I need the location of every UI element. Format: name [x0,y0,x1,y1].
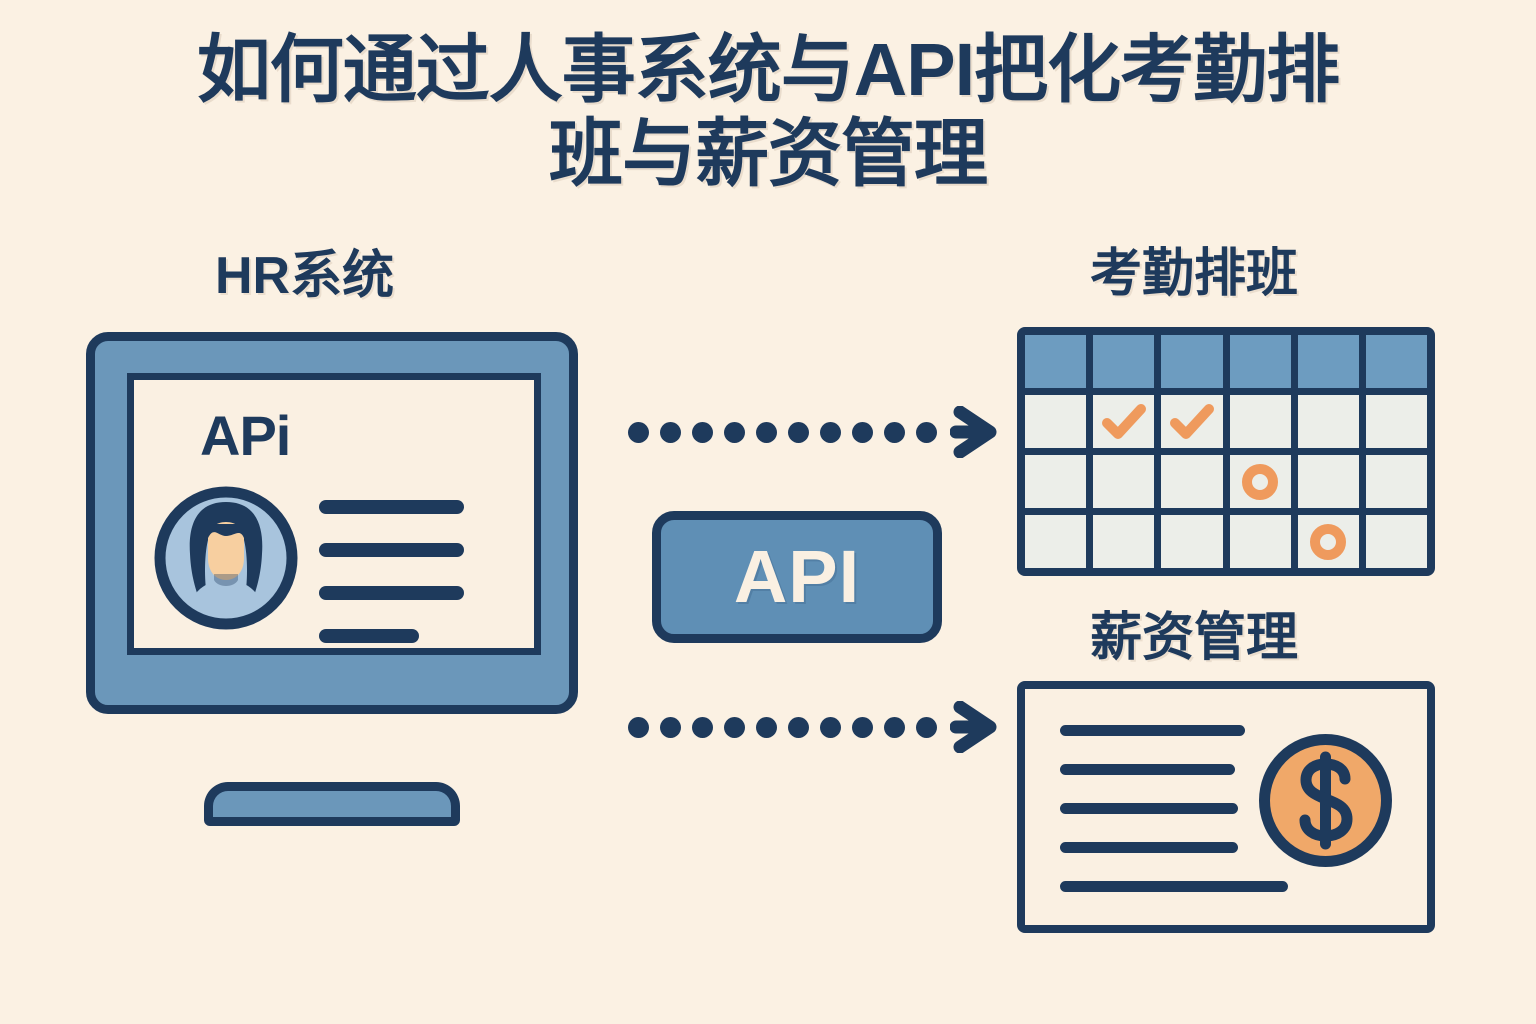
calendar-cell[interactable] [1298,455,1359,508]
calendar-header-cell[interactable] [1025,335,1086,388]
calendar-cell[interactable] [1093,395,1154,448]
arrow-dot [916,422,937,443]
calendar-cell[interactable] [1298,395,1359,448]
arrow-dot [756,422,777,443]
screen-text-line [319,586,464,600]
arrow-dot [820,422,841,443]
screen-text-lines [319,500,464,643]
payroll-text-line [1060,764,1235,775]
screen-api-heading: APi [200,408,290,464]
payroll-label: 薪资管理 [1090,612,1298,664]
monitor-base [204,782,460,826]
calendar-cell[interactable] [1230,515,1291,568]
page-title: 如何通过人事系统与API把化考勤排 班与薪资管理 [0,28,1536,195]
check-icon [1101,402,1147,442]
attendance-label: 考勤排班 [1090,248,1298,300]
arrow-to-payroll [628,707,970,747]
arrow-dot [628,422,649,443]
arrow-dot [788,422,809,443]
page-title-line-1: 如何通过人事系统与API把化考勤排 [0,28,1536,112]
calendar-header-cell[interactable] [1161,335,1222,388]
arrow-dot [724,717,745,738]
calendar-cell[interactable] [1093,455,1154,508]
arrow-dot [692,717,713,738]
calendar-header-cell[interactable] [1298,335,1359,388]
check-icon [1169,402,1215,442]
calendar-cell[interactable] [1161,395,1222,448]
employee-avatar-icon [152,484,300,632]
dollar-coin-icon [1256,731,1395,870]
arrow-dot [660,422,681,443]
circle-icon [1309,523,1347,561]
calendar-cell[interactable] [1025,515,1086,568]
arrow-dot [756,717,777,738]
monitor-body: APi [86,332,578,714]
calendar-cell[interactable] [1025,395,1086,448]
api-chip[interactable]: API [652,511,942,643]
calendar-cell[interactable] [1161,455,1222,508]
calendar-header-cell[interactable] [1093,335,1154,388]
arrow-dot [820,717,841,738]
arrow-dot [852,717,873,738]
arrow-dot [852,422,873,443]
page-title-line-2: 班与薪资管理 [0,112,1536,196]
hr-system-label: HR系统 [215,250,394,302]
infographic-canvas: 如何通过人事系统与API把化考勤排 班与薪资管理 HR系统 APi [0,0,1536,1024]
arrow-head-icon [950,701,998,753]
calendar-cell[interactable] [1161,515,1222,568]
attendance-calendar[interactable] [1017,327,1435,576]
arrow-dot [692,422,713,443]
calendar-header-cell[interactable] [1366,335,1427,388]
payroll-text-line [1060,881,1288,892]
calendar-header-cell[interactable] [1230,335,1291,388]
api-chip-label: API [734,540,860,614]
payroll-text-line [1060,842,1238,853]
calendar-cell[interactable] [1298,515,1359,568]
payroll-text-line [1060,725,1245,736]
calendar-cell[interactable] [1366,515,1427,568]
calendar-cell[interactable] [1093,515,1154,568]
arrow-dot [884,717,905,738]
payroll-card[interactable] [1017,681,1435,933]
calendar-cell[interactable] [1366,455,1427,508]
hr-system-monitor: APi [86,332,586,812]
calendar-cell[interactable] [1230,455,1291,508]
arrow-dot [628,717,649,738]
arrow-to-attendance [628,412,970,452]
calendar-cell[interactable] [1366,395,1427,448]
arrow-dot [884,422,905,443]
arrow-head-icon [950,406,998,458]
payroll-text-line [1060,803,1238,814]
monitor-screen: APi [127,373,541,655]
arrow-dot [916,717,937,738]
calendar-cell[interactable] [1230,395,1291,448]
screen-text-line [319,543,464,557]
arrow-dot [724,422,745,443]
circle-icon [1241,463,1279,501]
calendar-cell[interactable] [1025,455,1086,508]
screen-text-line [319,629,419,643]
payroll-text-lines [1060,725,1288,892]
arrow-dot [788,717,809,738]
arrow-dot [660,717,681,738]
screen-text-line [319,500,464,514]
